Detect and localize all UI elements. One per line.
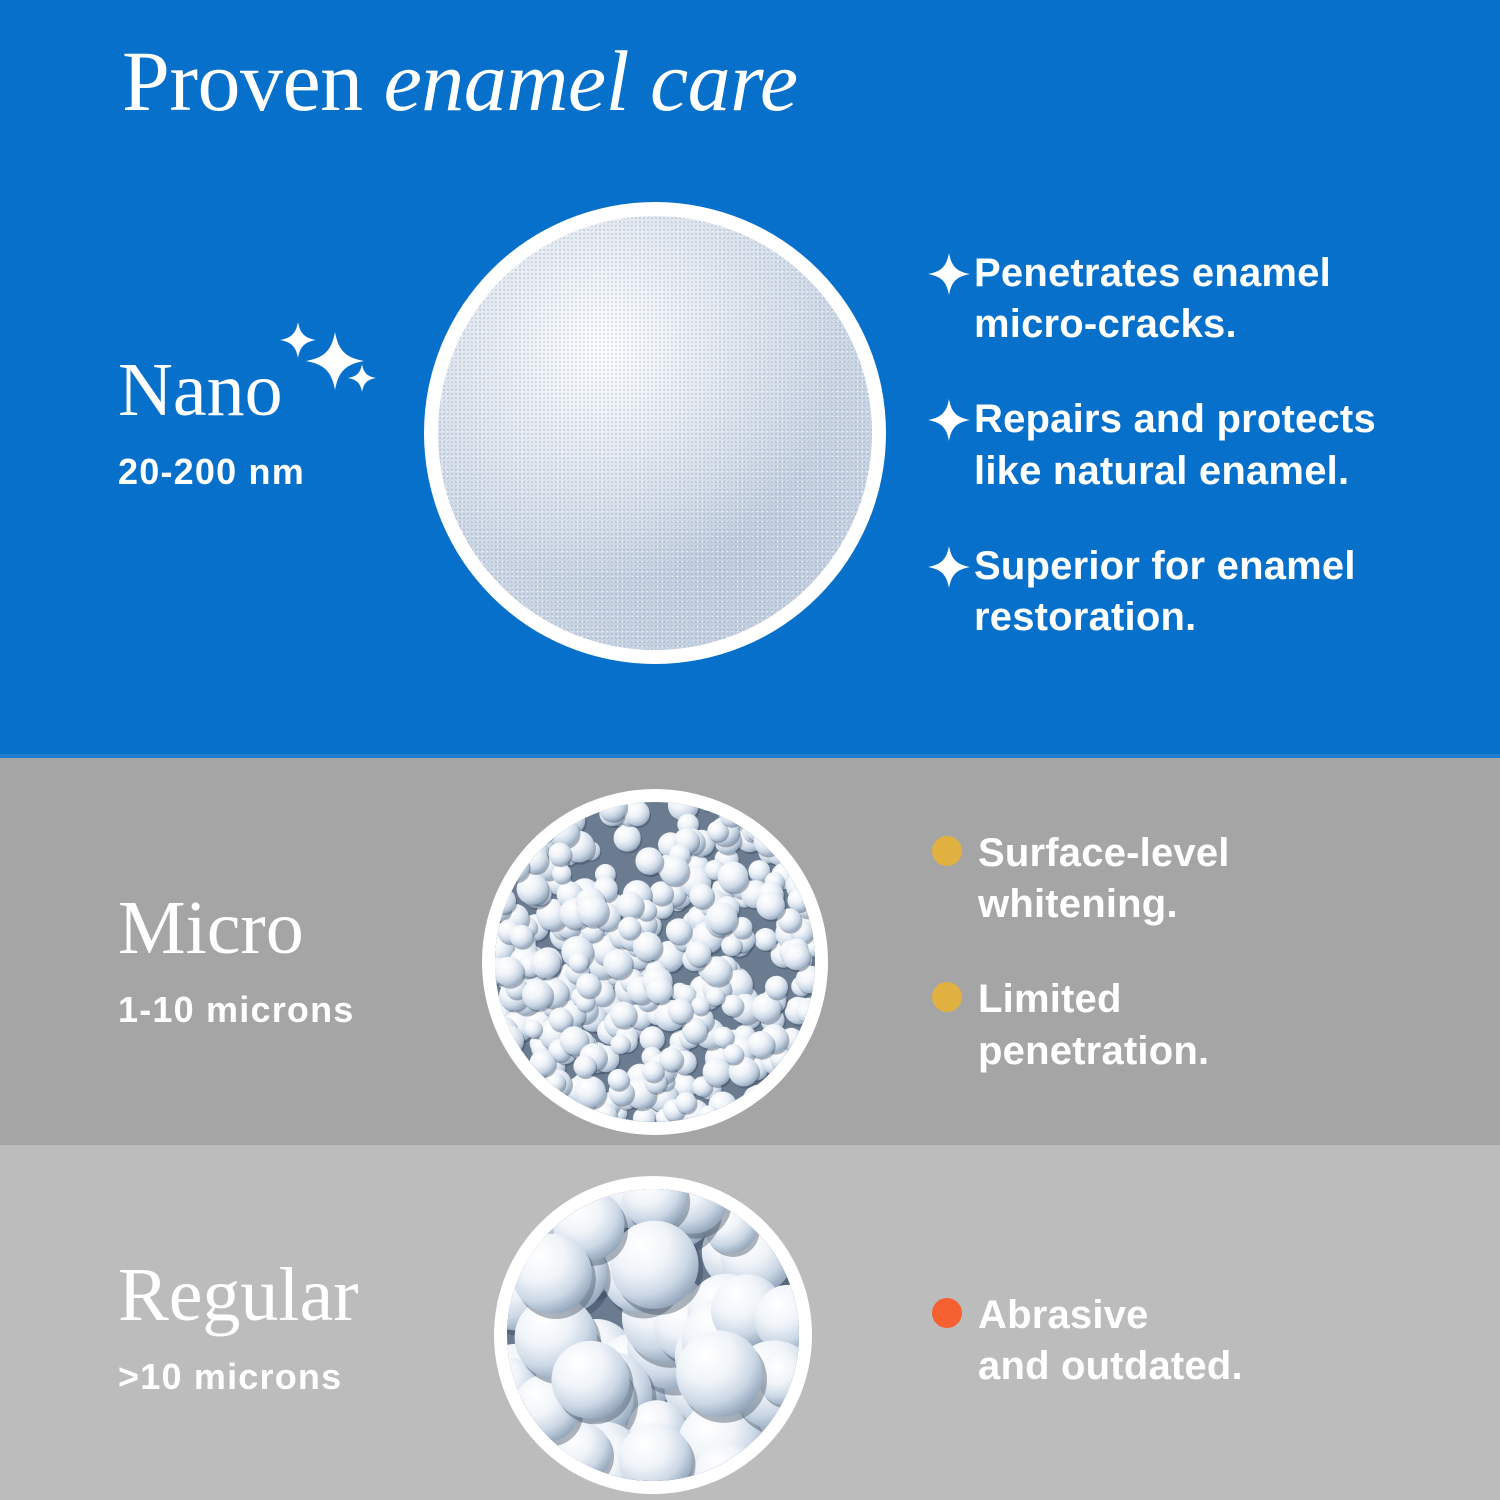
list-item: Repairs and protects like natural enamel… bbox=[928, 394, 1468, 496]
bullet-text: Surface-level whitening. bbox=[978, 828, 1230, 930]
section-name-regular: Regular bbox=[118, 1257, 359, 1333]
nano-particle-texture bbox=[438, 216, 872, 650]
bullet-text: Abrasive and outdated. bbox=[978, 1290, 1243, 1392]
nano-particle-circle bbox=[424, 202, 886, 664]
star-icon bbox=[928, 399, 974, 441]
section-label-nano: Nano 20-200 nm bbox=[118, 352, 305, 490]
section-size-micro: 1-10 microns bbox=[118, 992, 355, 1028]
bullet-list-regular: Abrasive and outdated. bbox=[932, 1290, 1352, 1392]
dot-icon bbox=[932, 828, 978, 866]
section-label-regular: Regular >10 microns bbox=[118, 1257, 359, 1395]
band-divider bbox=[0, 754, 1500, 758]
section-label-micro: Micro 1-10 microns bbox=[118, 890, 355, 1028]
list-item: Penetrates enamel micro-cracks. bbox=[928, 248, 1468, 350]
bullet-text: Penetrates enamel micro-cracks. bbox=[974, 248, 1331, 350]
bullet-text: Limited penetration. bbox=[978, 974, 1209, 1076]
dot-icon-shape bbox=[932, 1298, 962, 1328]
section-name-micro: Micro bbox=[118, 890, 304, 966]
section-size-regular: >10 microns bbox=[118, 1359, 359, 1395]
list-item: Superior for enamel restoration. bbox=[928, 541, 1468, 643]
section-size-nano: 20-200 nm bbox=[118, 454, 305, 490]
dot-icon bbox=[932, 974, 978, 1012]
page-title: Proven enamel care bbox=[122, 36, 798, 127]
regular-sphere-field bbox=[507, 1189, 799, 1481]
nano-grain-overlay bbox=[438, 216, 872, 650]
star-icon bbox=[928, 546, 974, 588]
bullet-list-nano: Penetrates enamel micro-cracks. Repairs … bbox=[928, 248, 1468, 687]
micro-sphere-field bbox=[495, 802, 815, 1122]
list-item: Abrasive and outdated. bbox=[932, 1290, 1352, 1392]
dot-icon-shape bbox=[932, 982, 962, 1012]
bullet-text: Repairs and protects like natural enamel… bbox=[974, 394, 1376, 496]
bullet-list-micro: Surface-level whitening. Limited penetra… bbox=[932, 828, 1352, 1121]
bullet-text: Superior for enamel restoration. bbox=[974, 541, 1356, 643]
dot-icon bbox=[932, 1290, 978, 1328]
list-item: Limited penetration. bbox=[932, 974, 1352, 1076]
page-title-italic: enamel care bbox=[384, 33, 798, 129]
list-item: Surface-level whitening. bbox=[932, 828, 1352, 930]
micro-particle-circle bbox=[482, 789, 828, 1135]
section-name-nano-text: Nano bbox=[118, 348, 283, 432]
page-title-regular: Proven bbox=[122, 33, 384, 129]
star-icon bbox=[928, 253, 974, 295]
dot-icon-shape bbox=[932, 836, 962, 866]
enamel-care-infographic: Proven enamel care Nano 20-200 nm Penetr… bbox=[0, 0, 1500, 1500]
section-name-nano: Nano bbox=[118, 352, 283, 428]
regular-particle-circle bbox=[494, 1176, 812, 1494]
